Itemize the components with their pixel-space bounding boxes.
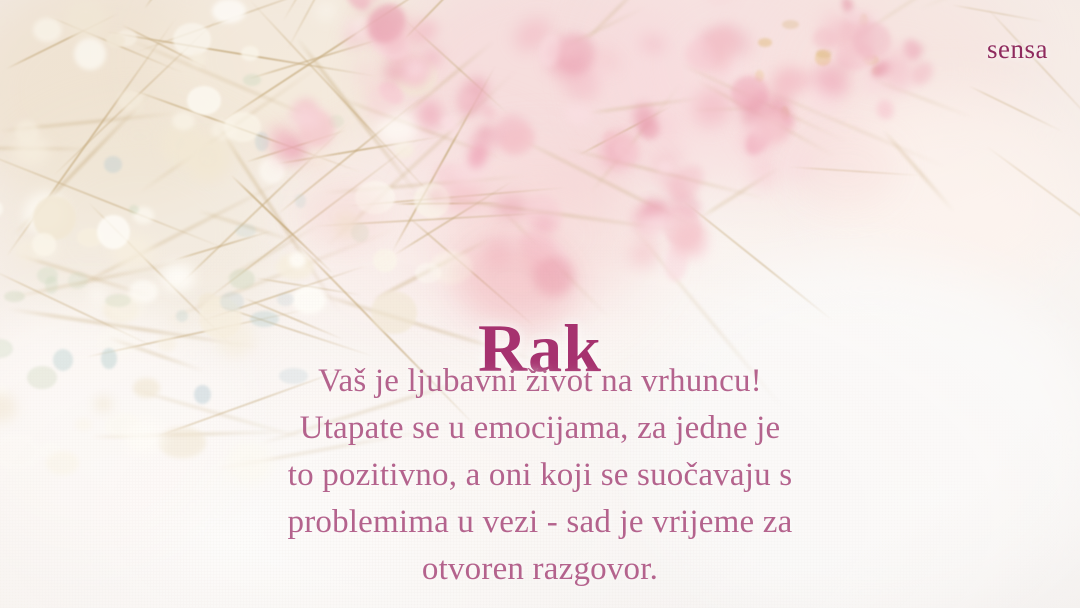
dried-flower-puff (106, 33, 125, 48)
dried-flower-puff (395, 55, 437, 96)
dried-flower-puff (295, 194, 306, 209)
dried-flower-puff (373, 249, 396, 273)
dried-flower-puff (129, 205, 139, 214)
dried-flower-puff (37, 267, 59, 284)
dried-flower-puff (863, 55, 879, 66)
dried-flower-puff (229, 269, 255, 290)
horoscope-line: Vaš je ljubavni život na vrhuncu! (0, 358, 1080, 405)
dried-flower-puff (816, 49, 831, 58)
dried-flower-puff (191, 52, 206, 67)
dried-flower-puff (782, 20, 799, 29)
horoscope-line: Utapate se u emocijama, za jedne je (0, 405, 1080, 452)
dried-flower-puff (161, 264, 195, 290)
dried-flower-puff (65, 0, 107, 40)
dried-flower-puff (289, 252, 306, 268)
dried-flower-puff (12, 134, 49, 166)
dried-flower-puff (292, 286, 326, 315)
horoscope-line: otvoren razgovor. (0, 546, 1080, 593)
dried-flower-puff (33, 18, 62, 42)
dried-flower-puff (173, 23, 212, 56)
dried-flower-puff (308, 147, 327, 167)
horoscope-text: Vaš je ljubavni život na vrhuncu!Utapate… (0, 358, 1080, 593)
horoscope-line: to pozitivno, a oni koji se suočavaju s (0, 452, 1080, 499)
dried-flower-puff (277, 293, 294, 306)
dried-flower-puff (415, 263, 441, 283)
dried-flower-puff (758, 38, 772, 47)
sensa-logo[interactable]: sensa (987, 34, 1048, 65)
dried-flower-puff (68, 272, 88, 290)
dried-flower-puff (315, 0, 338, 21)
horoscope-line: problemima u vezi - sad je vrijeme za (0, 499, 1080, 546)
dried-flower-puff (255, 132, 269, 152)
dried-flower-puff (243, 74, 261, 86)
dried-flower-puff (105, 294, 130, 307)
dried-flower-puff (394, 142, 413, 158)
dried-flower-puff (353, 17, 374, 39)
dried-flower-puff (172, 112, 195, 130)
dried-flower-puff (377, 24, 407, 49)
horoscope-card: sensa Rak Vaš je ljubavni život na vrhun… (0, 0, 1080, 608)
dried-flower-puff (32, 233, 55, 255)
dried-flower-puff (74, 38, 106, 70)
